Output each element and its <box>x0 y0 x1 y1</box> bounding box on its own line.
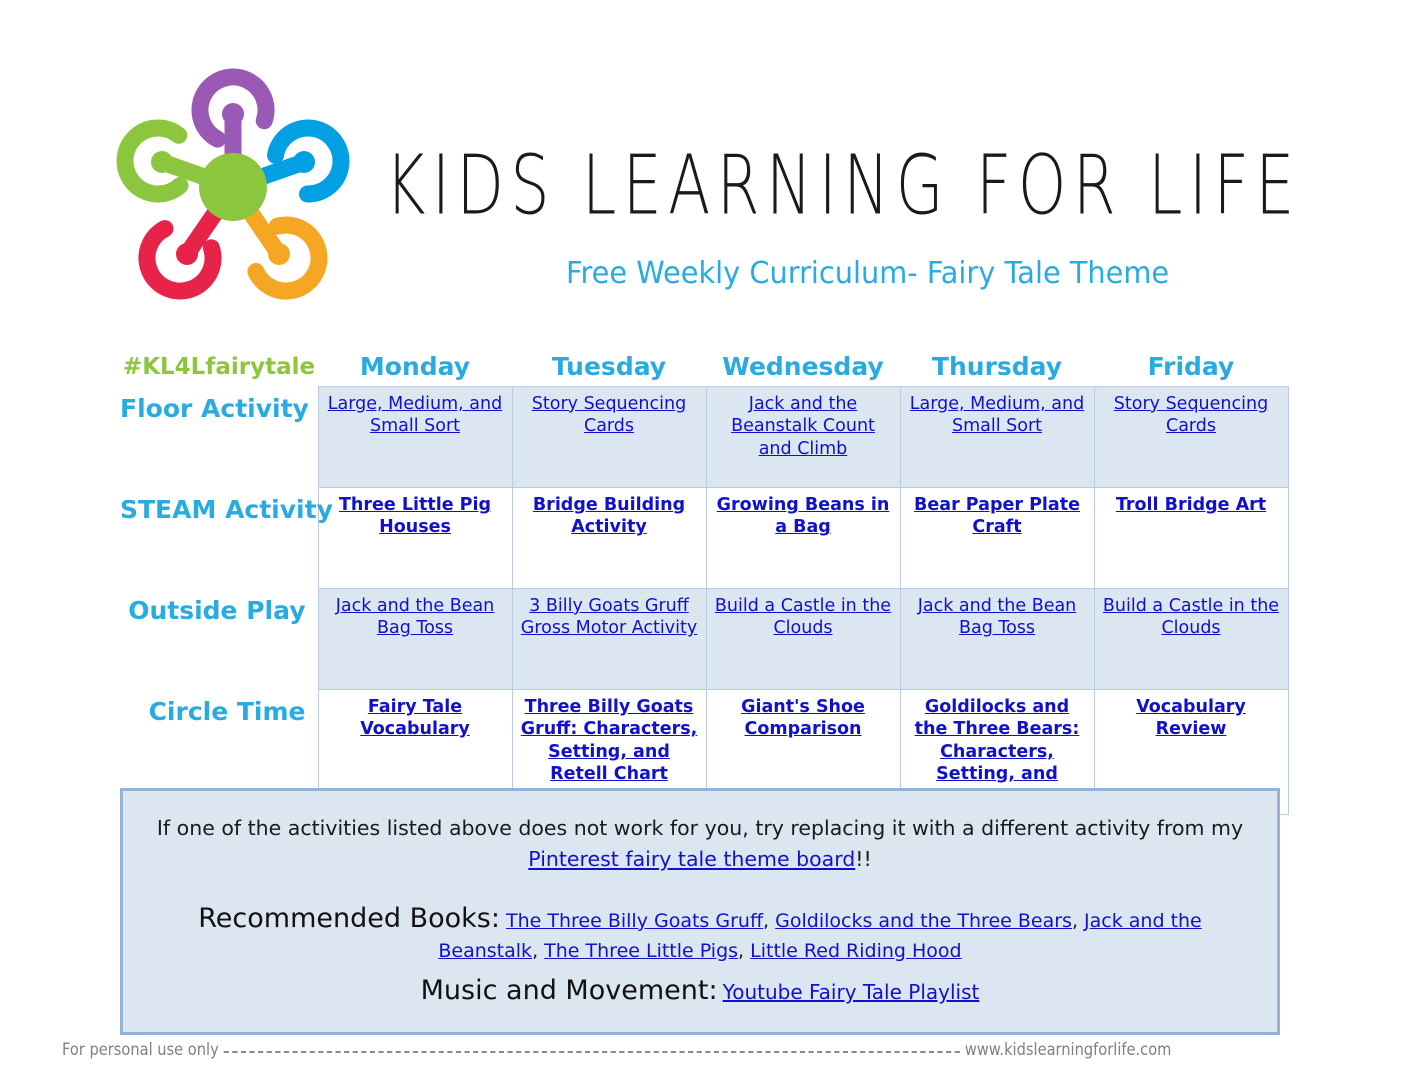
books-colon: : <box>491 903 500 934</box>
substitution-note-text: If one of the activities listed above do… <box>157 816 1243 840</box>
activity-cell[interactable]: 3 Billy Goats Gruff Gross Motor Activity <box>512 589 706 690</box>
pinterest-board-link[interactable]: Pinterest fairy tale theme board <box>528 847 855 871</box>
kids-learning-for-life-logo <box>108 62 358 312</box>
brand-subtitle: Free Weekly Curriculum- Fairy Tale Theme <box>566 256 1169 291</box>
activity-cell[interactable]: Bear Paper Plate Craft <box>900 488 1094 589</box>
activity-link[interactable]: Jack and the Beanstalk Count and Climb <box>731 394 875 459</box>
notes-panel: If one of the activities listed above do… <box>120 788 1280 1035</box>
activity-cell[interactable]: Large, Medium, and Small Sort <box>318 387 512 488</box>
book-link[interactable]: The Three Little Pigs <box>544 940 738 962</box>
book-link[interactable]: Little Red Riding Hood <box>750 940 961 962</box>
activity-cell[interactable]: Bridge Building Activity <box>512 488 706 589</box>
activity-cell[interactable]: Jack and the Beanstalk Count and Climb <box>706 387 900 488</box>
book-link[interactable]: The Three Billy Goats Gruff <box>506 910 763 932</box>
activity-link[interactable]: Large, Medium, and Small Sort <box>328 394 502 436</box>
recommended-books: Recommended Books: The Three Billy Goats… <box>149 899 1251 966</box>
activity-cell[interactable]: Story Sequencing Cards <box>512 387 706 488</box>
exclamation: !! <box>855 847 871 871</box>
hashtag-label: #KL4Lfairytale <box>120 352 318 387</box>
schedule-table: #KL4Lfairytale Monday Tuesday Wednesday … <box>120 352 1289 815</box>
activity-link[interactable]: Growing Beans in a Bag <box>717 495 890 537</box>
activity-link[interactable]: Bear Paper Plate Craft <box>914 495 1080 537</box>
table-row: Floor Activity Large, Medium, and Small … <box>120 387 1288 488</box>
row-label-steam-activity: STEAM Activity <box>120 488 318 589</box>
activity-link[interactable]: Jack and the Bean Bag Toss <box>336 596 495 638</box>
schedule-header-row: #KL4Lfairytale Monday Tuesday Wednesday … <box>120 352 1288 387</box>
activity-cell[interactable]: Three Little Pig Houses <box>318 488 512 589</box>
activity-link[interactable]: Story Sequencing Cards <box>1114 394 1268 436</box>
row-label-outside-play: Outside Play <box>120 589 318 690</box>
substitution-note: If one of the activities listed above do… <box>149 813 1251 875</box>
activity-link[interactable]: Three Billy Goats Gruff: Characters, Set… <box>521 697 698 784</box>
activity-link[interactable]: 3 Billy Goats Gruff Gross Motor Activity <box>521 596 697 638</box>
table-row: Outside Play Jack and the Bean Bag Toss … <box>120 589 1288 690</box>
activity-cell[interactable]: Jack and the Bean Bag Toss <box>900 589 1094 690</box>
recommended-books-label: Recommended Books <box>198 903 491 934</box>
activity-link[interactable]: Fairy Tale Vocabulary <box>360 697 470 739</box>
book-link[interactable]: Goldilocks and the Three Bears <box>775 910 1072 932</box>
day-header-monday: Monday <box>318 352 512 387</box>
activity-cell[interactable]: Build a Castle in the Clouds <box>1094 589 1288 690</box>
day-header-friday: Friday <box>1094 352 1288 387</box>
page-header: KIDS LEARNING FOR LIFE Free Weekly Curri… <box>0 0 1408 300</box>
activity-link[interactable]: Build a Castle in the Clouds <box>715 596 891 638</box>
activity-link[interactable]: Troll Bridge Art <box>1116 495 1266 515</box>
footer-website: www.kidslearningforlife.com <box>965 1040 1171 1060</box>
activity-link[interactable]: Story Sequencing Cards <box>532 394 686 436</box>
activity-cell[interactable]: Large, Medium, and Small Sort <box>900 387 1094 488</box>
activity-link[interactable]: Build a Castle in the Clouds <box>1103 596 1279 638</box>
brand-title: KIDS LEARNING FOR LIFE <box>385 138 1301 233</box>
day-header-thursday: Thursday <box>900 352 1094 387</box>
weekly-schedule: #KL4Lfairytale Monday Tuesday Wednesday … <box>120 352 1288 815</box>
row-label-floor-activity: Floor Activity <box>120 387 318 488</box>
page-footer: For personal use only www.kidslearningfo… <box>62 1040 1171 1060</box>
day-header-tuesday: Tuesday <box>512 352 706 387</box>
activity-link[interactable]: Jack and the Bean Bag Toss <box>918 596 1077 638</box>
activity-link[interactable]: Large, Medium, and Small Sort <box>910 394 1084 436</box>
footer-divider <box>224 1051 960 1053</box>
activity-link[interactable]: Three Little Pig Houses <box>339 495 491 537</box>
activity-cell[interactable]: Build a Castle in the Clouds <box>706 589 900 690</box>
activity-cell[interactable]: Story Sequencing Cards <box>1094 387 1288 488</box>
activity-link[interactable]: Giant's Shoe Comparison <box>741 697 865 739</box>
music-and-movement: Music and Movement: Youtube Fairy Tale P… <box>149 975 1251 1006</box>
activity-link[interactable]: Vocabulary Review <box>1136 697 1246 739</box>
music-and-movement-label: Music and Movement: <box>421 975 718 1006</box>
table-row: STEAM Activity Three Little Pig Houses B… <box>120 488 1288 589</box>
activity-cell[interactable]: Troll Bridge Art <box>1094 488 1288 589</box>
activity-link[interactable]: Bridge Building Activity <box>533 495 685 537</box>
activity-cell[interactable]: Jack and the Bean Bag Toss <box>318 589 512 690</box>
day-header-wednesday: Wednesday <box>706 352 900 387</box>
youtube-playlist-link[interactable]: Youtube Fairy Tale Playlist <box>723 980 980 1004</box>
activity-cell[interactable]: Growing Beans in a Bag <box>706 488 900 589</box>
footer-note: For personal use only <box>62 1040 219 1060</box>
